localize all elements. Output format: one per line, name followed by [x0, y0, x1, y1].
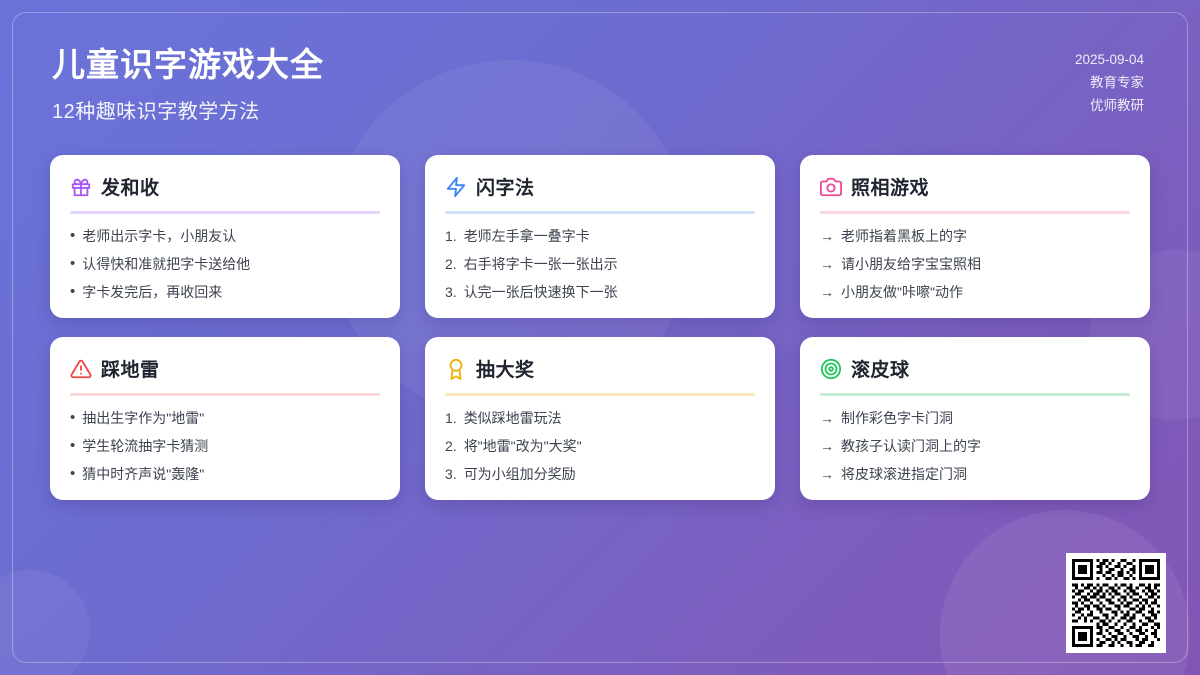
- page-title: 儿童识字游戏大全: [52, 44, 324, 85]
- list-marker: •: [70, 284, 75, 299]
- slide-root: 儿童识字游戏大全 12种趣味识字教学方法 2025-09-04 教育专家 优师教…: [0, 0, 1200, 675]
- list-marker: 3.: [445, 283, 457, 302]
- list-item: 2.将"地雷"改为"大奖": [445, 437, 755, 456]
- card-title: 照相游戏: [851, 173, 929, 200]
- card-accent-rule: [70, 393, 380, 396]
- list-marker: •: [70, 438, 75, 453]
- card-item-list: 1.类似踩地雷玩法2.将"地雷"改为"大奖"3.可为小组加分奖励: [445, 409, 755, 484]
- list-item-text: 老师左手拿一叠字卡: [464, 227, 590, 246]
- list-marker: 3.: [445, 465, 457, 484]
- list-item: •抽出生字作为"地雷": [70, 409, 380, 428]
- card-accent-rule: [445, 393, 755, 396]
- list-item-text: 右手将字卡一张一张出示: [464, 255, 618, 274]
- list-marker: 2.: [445, 255, 457, 274]
- gift-icon: [70, 176, 92, 198]
- list-marker: •: [70, 256, 75, 271]
- list-item-text: 认得快和准就把字卡送给他: [82, 255, 250, 274]
- page-subtitle: 12种趣味识字教学方法: [52, 95, 324, 124]
- card-title: 发和收: [101, 173, 160, 200]
- list-item: •猜中时齐声说"轰隆": [70, 465, 380, 484]
- card-accent-rule: [70, 211, 380, 214]
- header: 儿童识字游戏大全 12种趣味识字教学方法: [52, 44, 324, 124]
- meta-date: 2025-09-04: [1075, 48, 1144, 71]
- list-item: •字卡发完后，再收回来: [70, 283, 380, 302]
- list-item: →老师指着黑板上的字: [820, 227, 1130, 246]
- method-card[interactable]: 抽大奖1.类似踩地雷玩法2.将"地雷"改为"大奖"3.可为小组加分奖励: [425, 337, 775, 500]
- header-meta: 2025-09-04 教育专家 优师教研: [1075, 48, 1144, 118]
- list-item: 2.右手将字卡一张一张出示: [445, 255, 755, 274]
- list-item: •老师出示字卡，小朋友认: [70, 227, 380, 246]
- card-accent-rule: [820, 393, 1130, 396]
- list-item-text: 认完一张后快速换下一张: [464, 283, 618, 302]
- list-marker: →: [820, 255, 834, 274]
- card-item-list: →老师指着黑板上的字→请小朋友给字宝宝照相→小朋友做"咔嚓"动作: [820, 227, 1130, 302]
- list-item-text: 类似踩地雷玩法: [464, 409, 562, 428]
- list-marker: 1.: [445, 409, 457, 428]
- warning-triangle-icon: [70, 358, 92, 380]
- method-card[interactable]: 滚皮球→制作彩色字卡门洞→教孩子认读门洞上的字→将皮球滚进指定门洞: [800, 337, 1150, 500]
- card-item-list: →制作彩色字卡门洞→教孩子认读门洞上的字→将皮球滚进指定门洞: [820, 409, 1130, 484]
- card-title: 踩地雷: [101, 355, 160, 382]
- decorative-circle-4: [0, 570, 90, 675]
- list-marker: •: [70, 466, 75, 481]
- list-item: →小朋友做"咔嚓"动作: [820, 283, 1130, 302]
- card-header: 照相游戏: [820, 173, 1130, 200]
- list-item-text: 将"地雷"改为"大奖": [464, 437, 582, 456]
- award-icon: [445, 358, 467, 380]
- card-item-list: •抽出生字作为"地雷"•学生轮流抽字卡猜测•猜中时齐声说"轰隆": [70, 409, 380, 484]
- list-item: →请小朋友给字宝宝照相: [820, 255, 1130, 274]
- list-item-text: 制作彩色字卡门洞: [841, 409, 953, 428]
- list-item-text: 教孩子认读门洞上的字: [841, 437, 981, 456]
- card-item-list: 1.老师左手拿一叠字卡2.右手将字卡一张一张出示3.认完一张后快速换下一张: [445, 227, 755, 302]
- method-card[interactable]: 闪字法1.老师左手拿一叠字卡2.右手将字卡一张一张出示3.认完一张后快速换下一张: [425, 155, 775, 318]
- list-item-text: 老师出示字卡，小朋友认: [82, 227, 236, 246]
- list-item: 1.老师左手拿一叠字卡: [445, 227, 755, 246]
- card-header: 滚皮球: [820, 355, 1130, 382]
- method-card[interactable]: 照相游戏→老师指着黑板上的字→请小朋友给字宝宝照相→小朋友做"咔嚓"动作: [800, 155, 1150, 318]
- meta-role: 教育专家: [1075, 71, 1144, 94]
- card-header: 闪字法: [445, 173, 755, 200]
- list-marker: →: [820, 283, 834, 302]
- list-item-text: 小朋友做"咔嚓"动作: [841, 283, 963, 302]
- list-item-text: 老师指着黑板上的字: [841, 227, 967, 246]
- list-item: •学生轮流抽字卡猜测: [70, 437, 380, 456]
- list-marker: →: [820, 409, 834, 428]
- list-item-text: 学生轮流抽字卡猜测: [82, 437, 208, 456]
- list-item-text: 可为小组加分奖励: [464, 465, 576, 484]
- card-item-list: •老师出示字卡，小朋友认•认得快和准就把字卡送给他•字卡发完后，再收回来: [70, 227, 380, 302]
- list-item-text: 抽出生字作为"地雷": [82, 409, 204, 428]
- list-item: →制作彩色字卡门洞: [820, 409, 1130, 428]
- card-title: 闪字法: [476, 173, 535, 200]
- method-card[interactable]: 踩地雷•抽出生字作为"地雷"•学生轮流抽字卡猜测•猜中时齐声说"轰隆": [50, 337, 400, 500]
- method-card[interactable]: 发和收•老师出示字卡，小朋友认•认得快和准就把字卡送给他•字卡发完后，再收回来: [50, 155, 400, 318]
- card-header: 发和收: [70, 173, 380, 200]
- list-item: 1.类似踩地雷玩法: [445, 409, 755, 428]
- card-accent-rule: [820, 211, 1130, 214]
- list-item: →将皮球滚进指定门洞: [820, 465, 1130, 484]
- list-marker: →: [820, 437, 834, 456]
- zap-icon: [445, 176, 467, 198]
- target-icon: [820, 358, 842, 380]
- card-title: 滚皮球: [851, 355, 910, 382]
- card-header: 踩地雷: [70, 355, 380, 382]
- list-marker: •: [70, 228, 75, 243]
- list-marker: →: [820, 465, 834, 484]
- list-item: 3.认完一张后快速换下一张: [445, 283, 755, 302]
- list-item-text: 请小朋友给字宝宝照相: [841, 255, 981, 274]
- card-accent-rule: [445, 211, 755, 214]
- list-marker: →: [820, 227, 834, 246]
- list-item: •认得快和准就把字卡送给他: [70, 255, 380, 274]
- camera-icon: [820, 176, 842, 198]
- qr-code[interactable]: [1066, 553, 1166, 653]
- list-marker: 1.: [445, 227, 457, 246]
- card-grid: 发和收•老师出示字卡，小朋友认•认得快和准就把字卡送给他•字卡发完后，再收回来闪…: [50, 155, 1150, 500]
- list-marker: 2.: [445, 437, 457, 456]
- list-item: 3.可为小组加分奖励: [445, 465, 755, 484]
- list-item: →教孩子认读门洞上的字: [820, 437, 1130, 456]
- list-item-text: 猜中时齐声说"轰隆": [82, 465, 204, 484]
- card-title: 抽大奖: [476, 355, 535, 382]
- list-marker: •: [70, 410, 75, 425]
- meta-source: 优师教研: [1075, 94, 1144, 117]
- card-header: 抽大奖: [445, 355, 755, 382]
- list-item-text: 字卡发完后，再收回来: [82, 283, 222, 302]
- list-item-text: 将皮球滚进指定门洞: [841, 465, 967, 484]
